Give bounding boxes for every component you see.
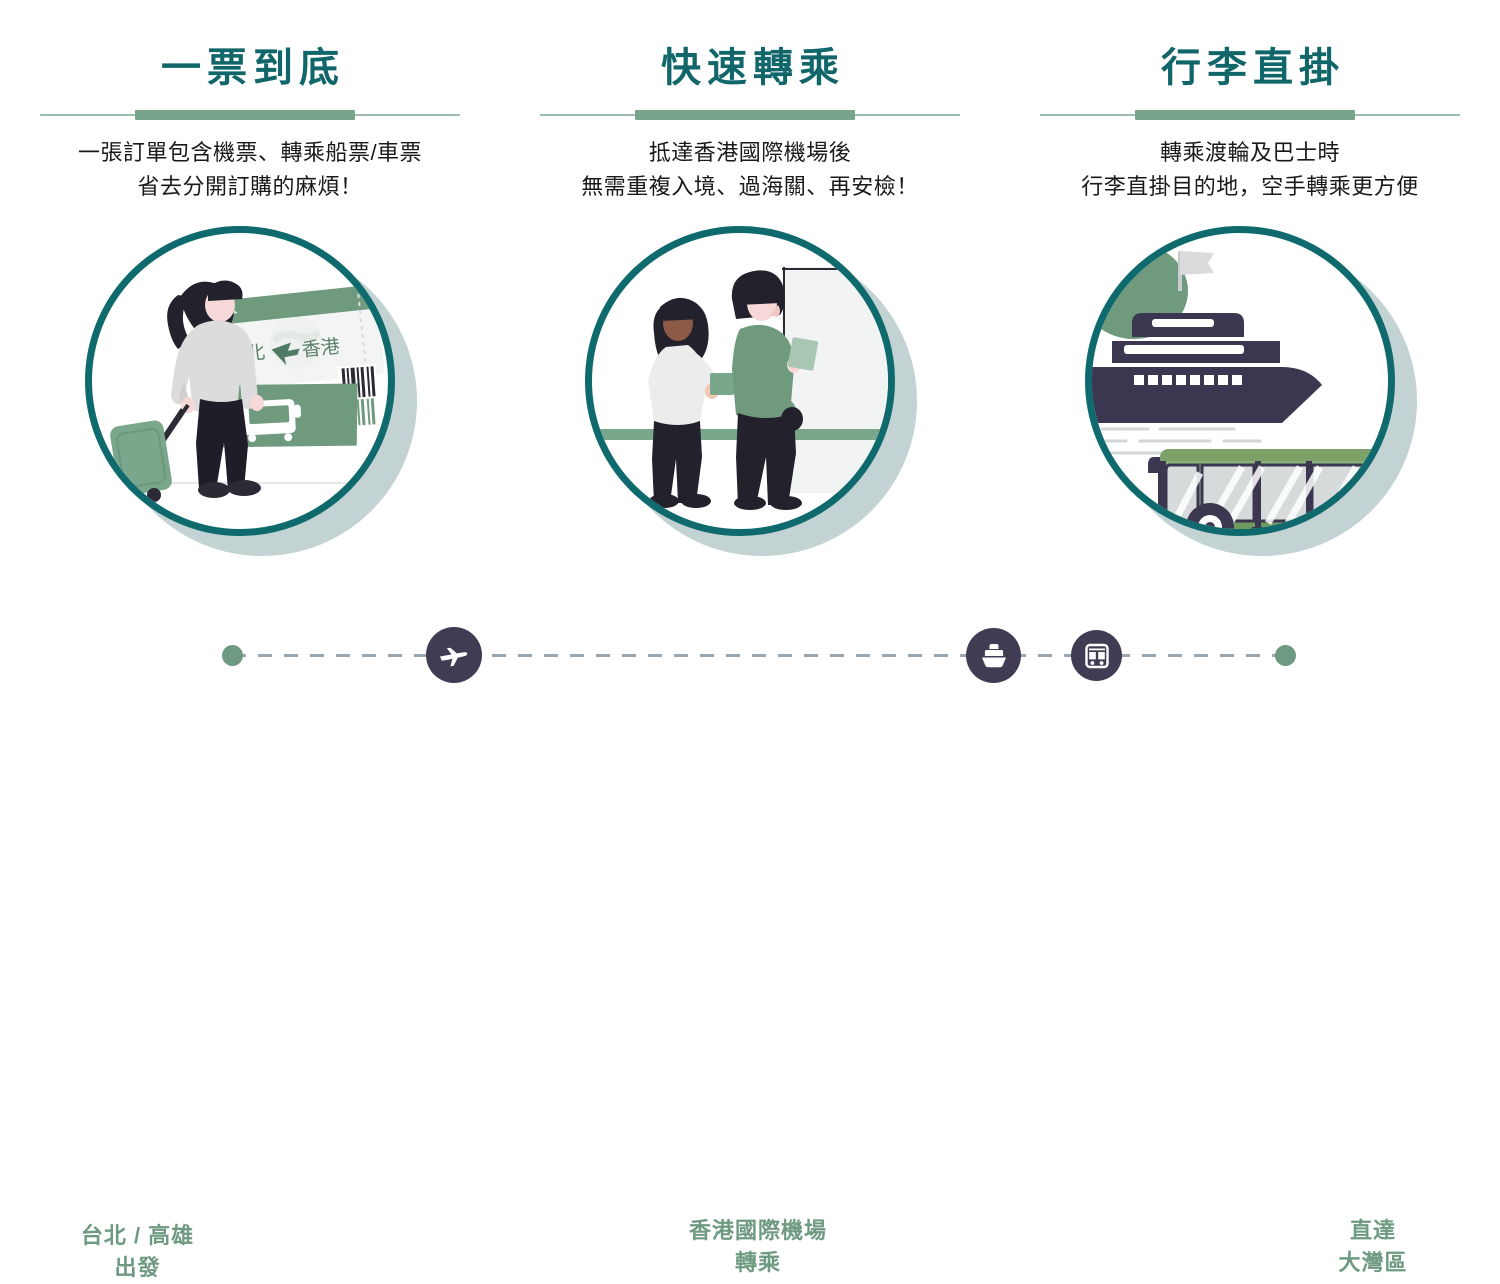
timeline-start-dot xyxy=(222,645,243,666)
timeline-transit-line2: 轉乘 xyxy=(648,1247,868,1279)
column-subtitle-line1: 一張訂單包含機票、轉乘船票/車票 xyxy=(78,136,422,170)
two-travelers-artwork xyxy=(592,233,888,529)
timeline-label-arrival: 直達 大灣區 xyxy=(1293,1215,1453,1279)
illustration-ferry-and-bus xyxy=(1085,226,1415,556)
feature-column-fast-transfer: 快速轉乘 抵達香港國際機場後 無需重複入境、過海關、再安檢！ xyxy=(500,0,1000,600)
feature-column-one-ticket: 一票到底 一張訂單包含機票、轉乘船票/車票 省去分開訂購的麻煩！ xyxy=(0,0,500,600)
plane-icon xyxy=(426,627,482,683)
divider-thick-bar xyxy=(135,110,355,120)
column-subtitle-line2: 省去分開訂購的麻煩！ xyxy=(78,170,422,204)
journey-timeline: 台北 / 高雄 出發 香港國際機場 轉乘 直達 大灣區 xyxy=(0,600,1500,737)
divider-thick-bar xyxy=(1135,110,1355,120)
timeline-departure-line2: 出發 xyxy=(50,1252,225,1284)
title-divider xyxy=(540,110,960,120)
column-subtitle: 抵達香港國際機場後 無需重複入境、過海關、再安檢！ xyxy=(581,136,919,204)
timeline-label-departure: 台北 / 高雄 出發 xyxy=(50,1220,225,1284)
timeline-end-dot xyxy=(1275,645,1296,666)
illustration-ring xyxy=(585,226,895,536)
feature-column-baggage-through: 行李直掛 轉乘渡輪及巴士時 行李直掛目的地，空手轉乘更方便 xyxy=(1000,0,1500,600)
illustration-traveler-with-suitcase: 台北 香港 xyxy=(85,226,415,556)
column-subtitle-line2: 無需重複入境、過海關、再安檢！ xyxy=(581,170,919,204)
column-subtitle: 一張訂單包含機票、轉乘船票/車票 省去分開訂購的麻煩！ xyxy=(78,136,422,204)
column-title: 快速轉乘 xyxy=(655,48,845,88)
column-title: 行李直掛 xyxy=(1155,48,1345,88)
divider-thick-bar xyxy=(635,110,855,120)
timeline-departure-line1: 台北 / 高雄 xyxy=(50,1220,225,1252)
ferry-and-bus-artwork xyxy=(1092,233,1388,529)
timeline-arrival-line2: 大灣區 xyxy=(1293,1247,1453,1279)
timeline-label-transit: 香港國際機場 轉乘 xyxy=(648,1215,868,1279)
illustration-two-travelers xyxy=(585,226,915,556)
ticket-destination-label: 香港 xyxy=(301,336,341,362)
column-subtitle-line1: 抵達香港國際機場後 xyxy=(581,136,919,170)
column-title: 一票到底 xyxy=(155,48,345,88)
ferry-icon xyxy=(966,628,1021,683)
column-subtitle-line2: 行李直掛目的地，空手轉乘更方便 xyxy=(1081,170,1419,204)
feature-columns: 一票到底 一張訂單包含機票、轉乘船票/車票 省去分開訂購的麻煩！ xyxy=(0,0,1500,600)
illustration-ring xyxy=(1085,226,1395,536)
traveler-female xyxy=(648,298,734,508)
traveler-with-suitcase-artwork: 台北 香港 xyxy=(92,233,388,529)
column-subtitle: 轉乘渡輪及巴士時 行李直掛目的地，空手轉乘更方便 xyxy=(1081,136,1419,204)
column-subtitle-line1: 轉乘渡輪及巴士時 xyxy=(1081,136,1419,170)
title-divider xyxy=(1040,110,1460,120)
illustration-ring: 台北 香港 xyxy=(85,226,395,536)
infographic-page: 一票到底 一張訂單包含機票、轉乘船票/車票 省去分開訂購的麻煩！ xyxy=(0,0,1500,737)
timeline-transit-line1: 香港國際機場 xyxy=(648,1215,868,1247)
title-divider xyxy=(40,110,460,120)
timeline-arrival-line1: 直達 xyxy=(1293,1215,1453,1247)
bus-icon xyxy=(1071,630,1122,681)
timeline-dashed-line xyxy=(232,654,1285,657)
